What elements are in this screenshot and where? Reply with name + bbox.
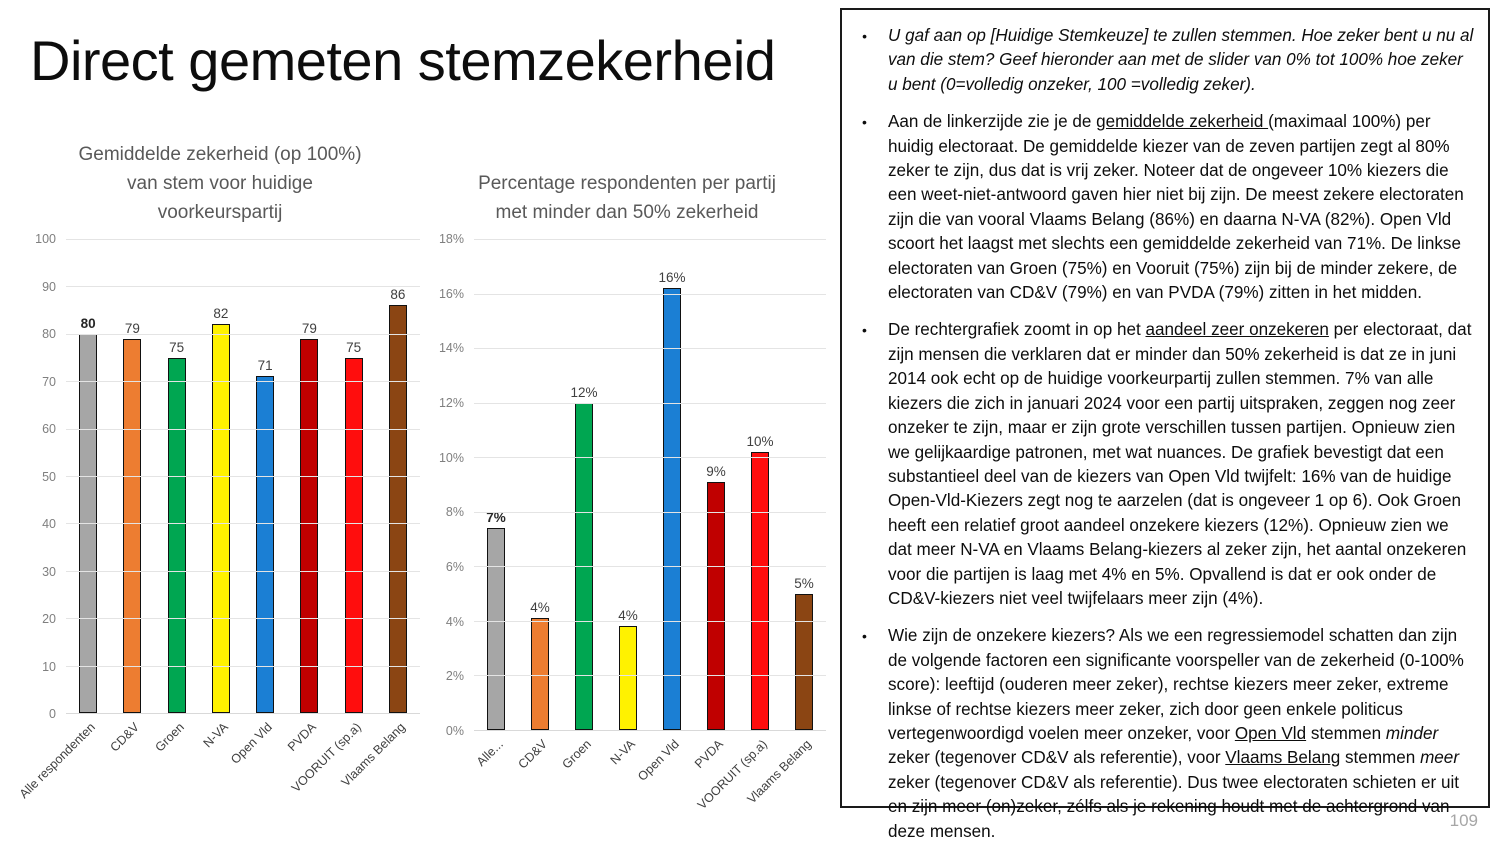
x-label-slot: Groen xyxy=(155,714,199,834)
x-axis-tick-label: Alle... xyxy=(474,737,506,769)
gridline xyxy=(474,457,826,458)
chart-average-certainty: Gemiddelde zekerheid (op 100%) van stem … xyxy=(20,140,420,714)
x-axis-tick-label: PVDA xyxy=(692,737,726,771)
bar-slot: 4% xyxy=(606,239,650,730)
chart-left-title-line-2: van stem voor huidige xyxy=(20,169,420,198)
gridline xyxy=(66,476,420,477)
chart-uncertain-share: Percentage respondenten per partij met m… xyxy=(428,140,826,731)
commentary-panel: U gaf aan op [Huidige Stemkeuze] te zull… xyxy=(840,8,1490,808)
page-title: Direct gemeten stemzekerheid xyxy=(30,28,775,93)
y-axis-tick-label: 0% xyxy=(446,724,464,738)
y-axis-tick-label: 70 xyxy=(42,375,56,389)
chart-left-title-line-3: voorkeurspartij xyxy=(20,198,420,227)
gridline xyxy=(474,621,826,622)
x-label-slot: CD&V xyxy=(518,731,562,851)
bar-cd-v: 79 xyxy=(123,339,141,713)
gridline xyxy=(66,666,420,667)
bar-open-vld: 71 xyxy=(256,376,274,713)
chart-right-x-axis: Alle...CD&VGroenN-VAOpen VldPVDAVOORUIT … xyxy=(474,731,826,851)
bar-value-label: 82 xyxy=(213,306,228,321)
y-axis-tick-label: 50 xyxy=(42,470,56,484)
bar-value-label: 71 xyxy=(258,358,273,373)
chart-left-y-axis: 0102030405060708090100 xyxy=(20,239,62,714)
x-label-slot: CD&V xyxy=(110,714,154,834)
bullet-item: De rechtergrafiek zoomt in op het aandee… xyxy=(848,318,1474,611)
x-axis-tick-label: CD&V xyxy=(108,720,142,754)
x-axis-tick-label: Groen xyxy=(559,737,593,771)
chart-right-grid: 7%4%12%4%16%9%10%5% xyxy=(474,239,826,731)
bar-pvda: 79 xyxy=(300,339,318,713)
y-axis-tick-label: 8% xyxy=(446,505,464,519)
bar-value-label: 75 xyxy=(169,340,184,355)
bar-value-label: 9% xyxy=(706,464,726,479)
x-axis-tick-label: Groen xyxy=(152,720,186,754)
x-label-slot: Alle respondenten xyxy=(66,714,110,834)
bullet-item: Wie zijn de onzekere kiezers? Als we een… xyxy=(848,624,1474,844)
bar-n-va: 4% xyxy=(619,626,637,730)
bar-value-label: 10% xyxy=(746,434,773,449)
bar-vlaams-belang: 86 xyxy=(389,305,407,713)
x-label-slot: Groen xyxy=(562,731,606,851)
gridline xyxy=(474,512,826,513)
x-label-slot: Vlaams Belang xyxy=(376,714,420,834)
y-axis-tick-label: 6% xyxy=(446,560,464,574)
bar-slot: 12% xyxy=(562,239,606,730)
bar-vooruit-sp-a: 10% xyxy=(751,452,769,730)
gridline xyxy=(66,618,420,619)
bar-vlaams-belang: 5% xyxy=(795,594,813,730)
gridline xyxy=(66,429,420,430)
x-axis-tick-label: N-VA xyxy=(608,737,638,767)
gridline xyxy=(474,294,826,295)
gridline xyxy=(66,571,420,572)
bar-alle: 7% xyxy=(487,528,505,730)
y-axis-tick-label: 0 xyxy=(49,707,56,721)
bar-cd-v: 4% xyxy=(531,618,549,730)
gridline xyxy=(66,239,420,240)
y-axis-tick-label: 90 xyxy=(42,280,56,294)
chart-right-title-line-1: Percentage respondenten per partij xyxy=(428,169,826,198)
y-axis-tick-label: 14% xyxy=(439,341,464,355)
x-label-slot: Open Vld xyxy=(243,714,287,834)
bar-slot: 5% xyxy=(782,239,826,730)
gridline xyxy=(474,348,826,349)
y-axis-tick-label: 40 xyxy=(42,517,56,531)
bullet-item: Aan de linkerzijde zie je de gemiddelde … xyxy=(848,110,1474,305)
y-axis-tick-label: 100 xyxy=(35,232,56,246)
bar-value-label: 16% xyxy=(658,270,685,285)
x-axis-tick-label: N-VA xyxy=(200,720,230,750)
bar-pvda: 9% xyxy=(707,482,725,730)
y-axis-tick-label: 18% xyxy=(439,232,464,246)
bar-vooruit-sp-a: 75 xyxy=(345,358,363,714)
gridline xyxy=(474,403,826,404)
gridline xyxy=(474,239,826,240)
y-axis-tick-label: 10% xyxy=(439,451,464,465)
bar-value-label: 75 xyxy=(346,340,361,355)
x-axis-tick-label: CD&V xyxy=(515,737,549,771)
chart-left-x-axis: Alle respondentenCD&VGroenN-VAOpen VldPV… xyxy=(66,714,420,834)
bar-groen: 75 xyxy=(168,358,186,714)
bullet-list: U gaf aan op [Huidige Stemkeuze] te zull… xyxy=(848,24,1474,844)
chart-right-bars: 7%4%12%4%16%9%10%5% xyxy=(474,239,826,730)
chart-right-y-axis: 0%2%4%6%8%10%12%14%16%18% xyxy=(428,239,470,731)
chart-right-title: Percentage respondenten per partij met m… xyxy=(428,140,826,227)
gridline xyxy=(474,675,826,676)
bar-n-va: 82 xyxy=(212,324,230,713)
page-number: 109 xyxy=(1450,811,1478,831)
bar-slot: 16% xyxy=(650,239,694,730)
x-axis-tick-label: Alle respondenten xyxy=(17,720,98,801)
gridline xyxy=(66,286,420,287)
bar-slot: 9% xyxy=(694,239,738,730)
chart-right-plot: 0%2%4%6%8%10%12%14%16%18% 7%4%12%4%16%9%… xyxy=(428,239,826,731)
gridline xyxy=(66,334,420,335)
y-axis-tick-label: 16% xyxy=(439,287,464,301)
y-axis-tick-label: 30 xyxy=(42,565,56,579)
chart-left-grid: 8079758271797586 xyxy=(66,239,420,714)
chart-left-plot: 0102030405060708090100 8079758271797586 … xyxy=(20,239,420,714)
bar-open-vld: 16% xyxy=(663,288,681,730)
bar-value-label: 12% xyxy=(570,385,597,400)
chart-right-title-line-2: met minder dan 50% zekerheid xyxy=(428,198,826,227)
x-axis-tick-label: PVDA xyxy=(285,720,319,754)
bar-value-label: 4% xyxy=(530,600,550,615)
gridline xyxy=(66,523,420,524)
bar-slot: 10% xyxy=(738,239,782,730)
y-axis-tick-label: 10 xyxy=(42,660,56,674)
y-axis-tick-label: 20 xyxy=(42,612,56,626)
chart-left-title: Gemiddelde zekerheid (op 100%) van stem … xyxy=(20,140,420,227)
y-axis-tick-label: 80 xyxy=(42,327,56,341)
gridline xyxy=(474,566,826,567)
bar-value-label: 86 xyxy=(390,287,405,302)
bar-value-label: 5% xyxy=(794,576,814,591)
bar-value-label: 80 xyxy=(81,316,96,331)
y-axis-tick-label: 4% xyxy=(446,615,464,629)
x-label-slot: N-VA xyxy=(199,714,243,834)
x-label-slot: N-VA xyxy=(606,731,650,851)
x-label-slot: Open Vld xyxy=(650,731,694,851)
x-label-slot: Alle... xyxy=(474,731,518,851)
y-axis-tick-label: 12% xyxy=(439,396,464,410)
bar-slot: 7% xyxy=(474,239,518,730)
x-label-slot: Vlaams Belang xyxy=(782,731,826,851)
chart-left-title-line-1: Gemiddelde zekerheid (op 100%) xyxy=(20,140,420,169)
y-axis-tick-label: 60 xyxy=(42,422,56,436)
bullet-item: U gaf aan op [Huidige Stemkeuze] te zull… xyxy=(848,24,1474,97)
bar-slot: 4% xyxy=(518,239,562,730)
y-axis-tick-label: 2% xyxy=(446,669,464,683)
gridline xyxy=(66,381,420,382)
